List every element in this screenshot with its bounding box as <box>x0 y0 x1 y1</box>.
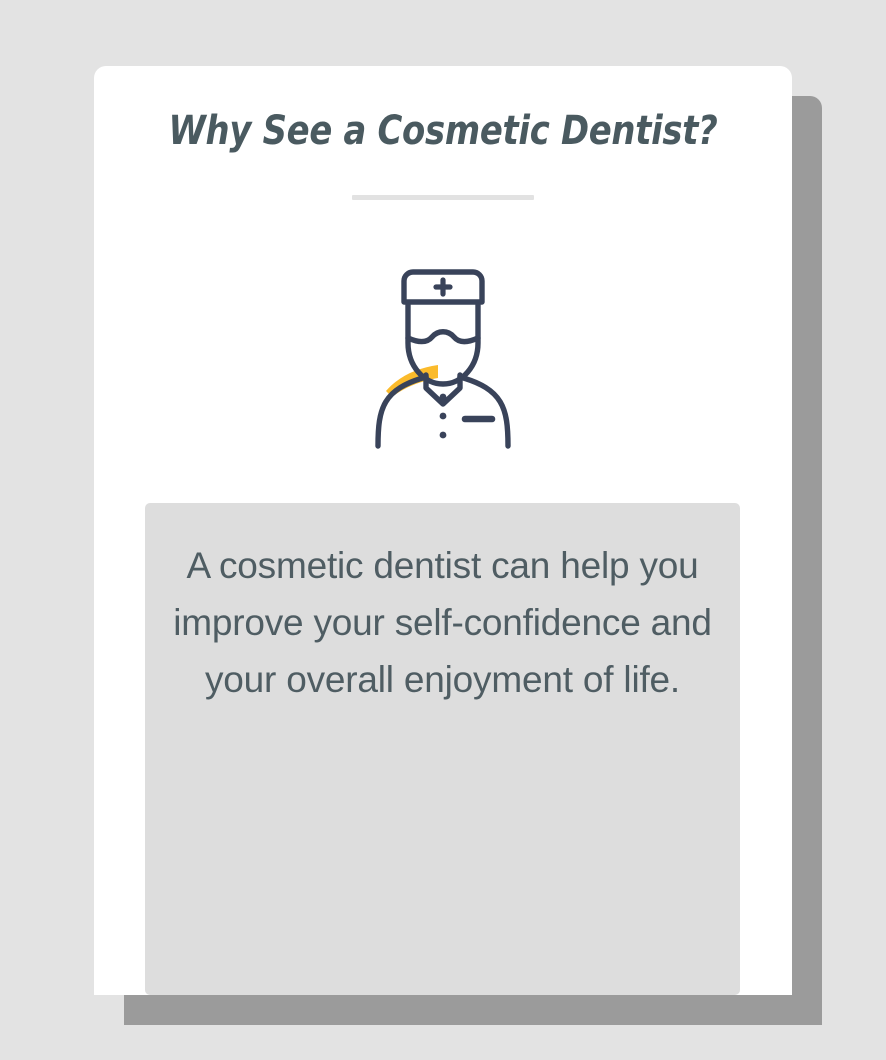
icon-button-3 <box>440 432 447 439</box>
slide-canvas: Why See a Cosmetic Dentist? <box>0 0 886 1060</box>
icon-shoulder-left <box>378 377 426 446</box>
title-divider <box>352 195 534 200</box>
page-title: Why See a Cosmetic Dentist? <box>115 108 771 154</box>
icon-button-2 <box>440 413 447 420</box>
icon-mask <box>408 332 478 342</box>
content-card: Why See a Cosmetic Dentist? <box>94 66 792 995</box>
panel-body-text: A cosmetic dentist can help you improve … <box>173 537 712 708</box>
content-panel: A cosmetic dentist can help you improve … <box>145 503 740 995</box>
icon-button-1 <box>440 394 447 401</box>
icon-head <box>408 305 478 384</box>
icon-plus <box>436 280 450 294</box>
icon-shoulder-right <box>460 377 508 446</box>
dentist-icon <box>369 264 517 449</box>
